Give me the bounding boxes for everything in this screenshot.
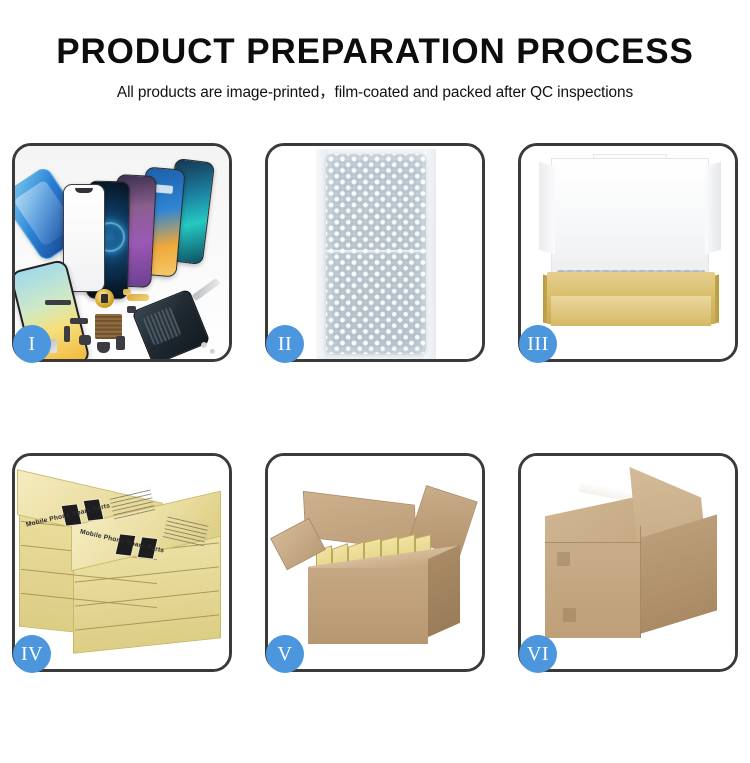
- process-row-top: I II: [12, 143, 738, 362]
- carton-flap-tab-upper: [557, 552, 570, 566]
- step-image-carton-sealed: [521, 456, 735, 669]
- bubble-wrap-bubbles: [326, 154, 426, 354]
- carton-seam-vertical: [640, 526, 641, 638]
- step-image-phone-parts: [15, 146, 229, 359]
- step-panel-4[interactable]: Mobile Phone Spare Parts Mobile Phone Sp…: [12, 453, 232, 672]
- carton-seam-top-front: [545, 542, 641, 543]
- step-image-bubble-wrap: [268, 146, 482, 359]
- speaker-coil-part-icon: [95, 289, 114, 308]
- carton-flap-tab-lower: [563, 608, 576, 622]
- vibrator-part-icon: [116, 336, 125, 350]
- screw-small-2-icon: [210, 349, 215, 354]
- carton-side-right: [428, 545, 460, 637]
- page-title: PRODUCT PREPARATION PROCESS: [0, 0, 750, 71]
- page-subtitle: All products are image-printed，film-coat…: [0, 71, 750, 102]
- foam-lid-flap-left: [539, 162, 555, 255]
- step-badge-1: I: [13, 325, 51, 363]
- flex-cable-part-icon: [70, 318, 88, 324]
- step-panel-1[interactable]: I: [12, 143, 232, 362]
- gold-flex-part-icon: [127, 294, 149, 301]
- step-badge-4: IV: [13, 635, 51, 673]
- button-part-icon: [127, 306, 136, 313]
- foam-lid-panel: [551, 158, 709, 276]
- step-image-inner-box: [521, 146, 735, 359]
- step-badge-6: VI: [519, 635, 557, 673]
- tweezers-part-icon: [192, 278, 220, 301]
- carton-front-face: [308, 568, 428, 644]
- kraft-tray-front: [551, 296, 711, 326]
- step-panel-2[interactable]: II: [265, 143, 485, 362]
- camera-module-part-icon: [79, 335, 91, 345]
- bubble-wrap-seam: [326, 250, 426, 254]
- step-image-carton-filled: [268, 456, 482, 669]
- ribbon-part-icon: [64, 326, 70, 342]
- page-header: PRODUCT PREPARATION PROCESS All products…: [0, 0, 750, 102]
- foam-lid-flap-right: [705, 162, 721, 255]
- step-panel-3[interactable]: III: [518, 143, 738, 362]
- step-panel-6[interactable]: VI: [518, 453, 738, 672]
- connector-part-icon: [45, 300, 71, 305]
- step-panel-5[interactable]: V: [265, 453, 485, 672]
- process-row-bottom: Mobile Phone Spare Parts Mobile Phone Sp…: [12, 453, 738, 672]
- step-badge-2: II: [266, 325, 304, 363]
- screw-part-icon: [123, 289, 131, 295]
- step-badge-5: V: [266, 635, 304, 673]
- screw-small-icon: [201, 342, 207, 348]
- process-step-grid: I II: [12, 143, 738, 763]
- step-image-box-stack: Mobile Phone Spare Parts Mobile Phone Sp…: [15, 456, 229, 669]
- speaker-part-icon: [97, 342, 110, 353]
- step-badge-3: III: [519, 325, 557, 363]
